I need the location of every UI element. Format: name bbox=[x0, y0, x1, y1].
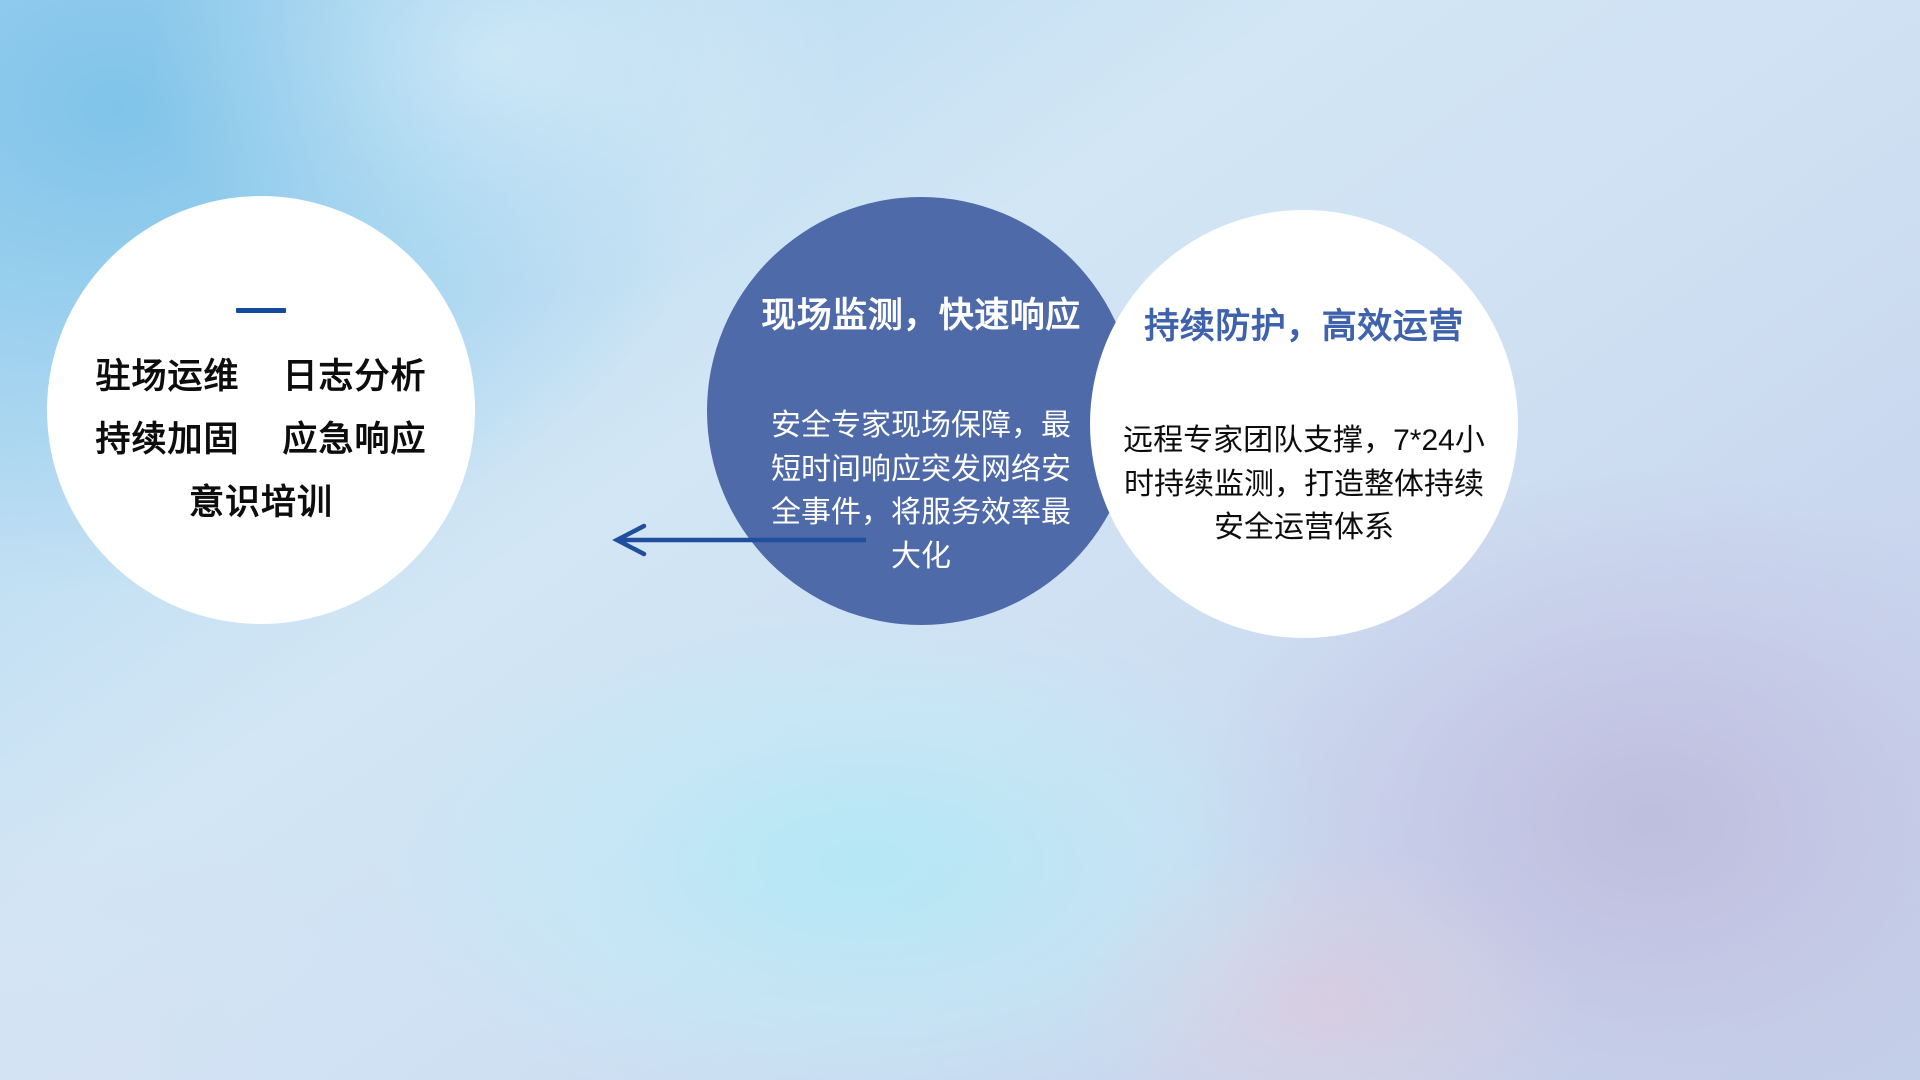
circle-capabilities[interactable]: 驻场运维 日志分析 持续加固 应急响应 意识培训 bbox=[47, 196, 475, 624]
continuous-protection-title: 持续防护，高效运营 bbox=[1144, 298, 1464, 349]
capabilities-content: 驻场运维 日志分析 持续加固 应急响应 意识培训 bbox=[47, 196, 475, 624]
capability-line-1: 驻场运维 日志分析 bbox=[96, 359, 427, 394]
continuous-protection-body: 远程专家团队支撑，7*24小时持续监测，打造整体持续安全运营体系 bbox=[1119, 419, 1489, 550]
circle-continuous-protection[interactable]: 持续防护，高效运营 远程专家团队支撑，7*24小时持续监测，打造整体持续安全运营… bbox=[1090, 210, 1518, 638]
capability-line-2: 持续加固 应急响应 bbox=[96, 422, 427, 457]
capability-line-3: 意识培训 bbox=[189, 485, 333, 520]
continuous-protection-content: 持续防护，高效运营 远程专家团队支撑，7*24小时持续监测，打造整体持续安全运营… bbox=[1090, 210, 1518, 638]
slide-canvas: 现场监测，快速响应 安全专家现场保障，最短时间响应突发网络安全事件，将服务效率最… bbox=[0, 0, 1920, 1080]
accent-divider-bar bbox=[236, 308, 286, 313]
onsite-monitoring-title: 现场监测，快速响应 bbox=[761, 287, 1081, 338]
flow-arrow-left-icon bbox=[600, 515, 870, 565]
